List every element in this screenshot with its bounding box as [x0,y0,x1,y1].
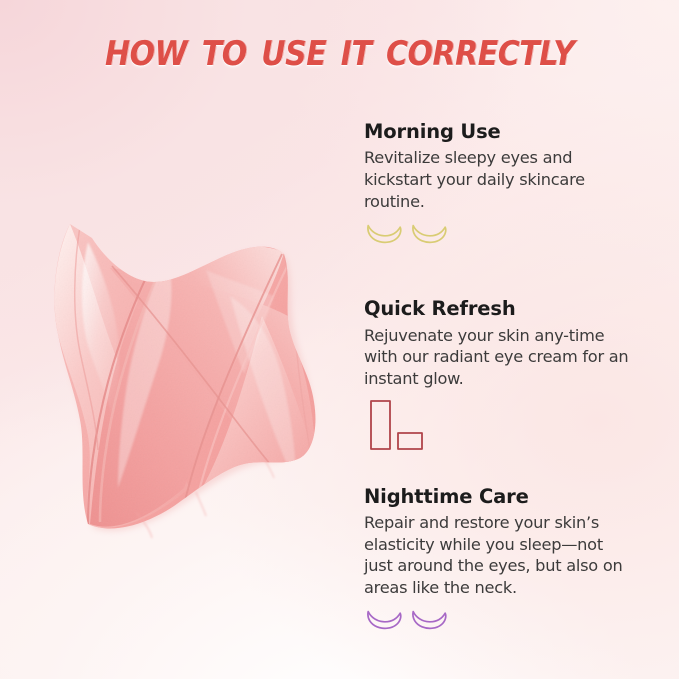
page-title-container: How to Use It Correctly [0,24,679,75]
section-heading: Nighttime Care [364,485,632,509]
section-heading: Quick Refresh [364,297,632,321]
section-morning-use: Morning Use Revitalize sleepy eyes and k… [364,120,632,249]
eye-patch-pair-icon [364,219,632,249]
cream-tube-and-box-icon [364,397,632,457]
section-spacer [364,249,632,297]
section-heading: Morning Use [364,120,632,144]
eye-patch-pair-icon [364,605,632,635]
section-body: Repair and restore your skin’s elasticit… [364,512,632,599]
section-body: Revitalize sleepy eyes and kickstart you… [364,147,632,212]
section-quick-refresh: Quick Refresh Rejuvenate your skin any-t… [364,297,632,456]
pink-cream-smear-artwork [18,120,348,565]
section-nighttime-care: Nighttime Care Repair and restore your s… [364,485,632,636]
section-body: Rejuvenate your skin any-time with our r… [364,325,632,390]
page-title: How to Use It Correctly [105,24,574,75]
instruction-list: Morning Use Revitalize sleepy eyes and k… [364,120,632,635]
section-spacer [364,457,632,485]
